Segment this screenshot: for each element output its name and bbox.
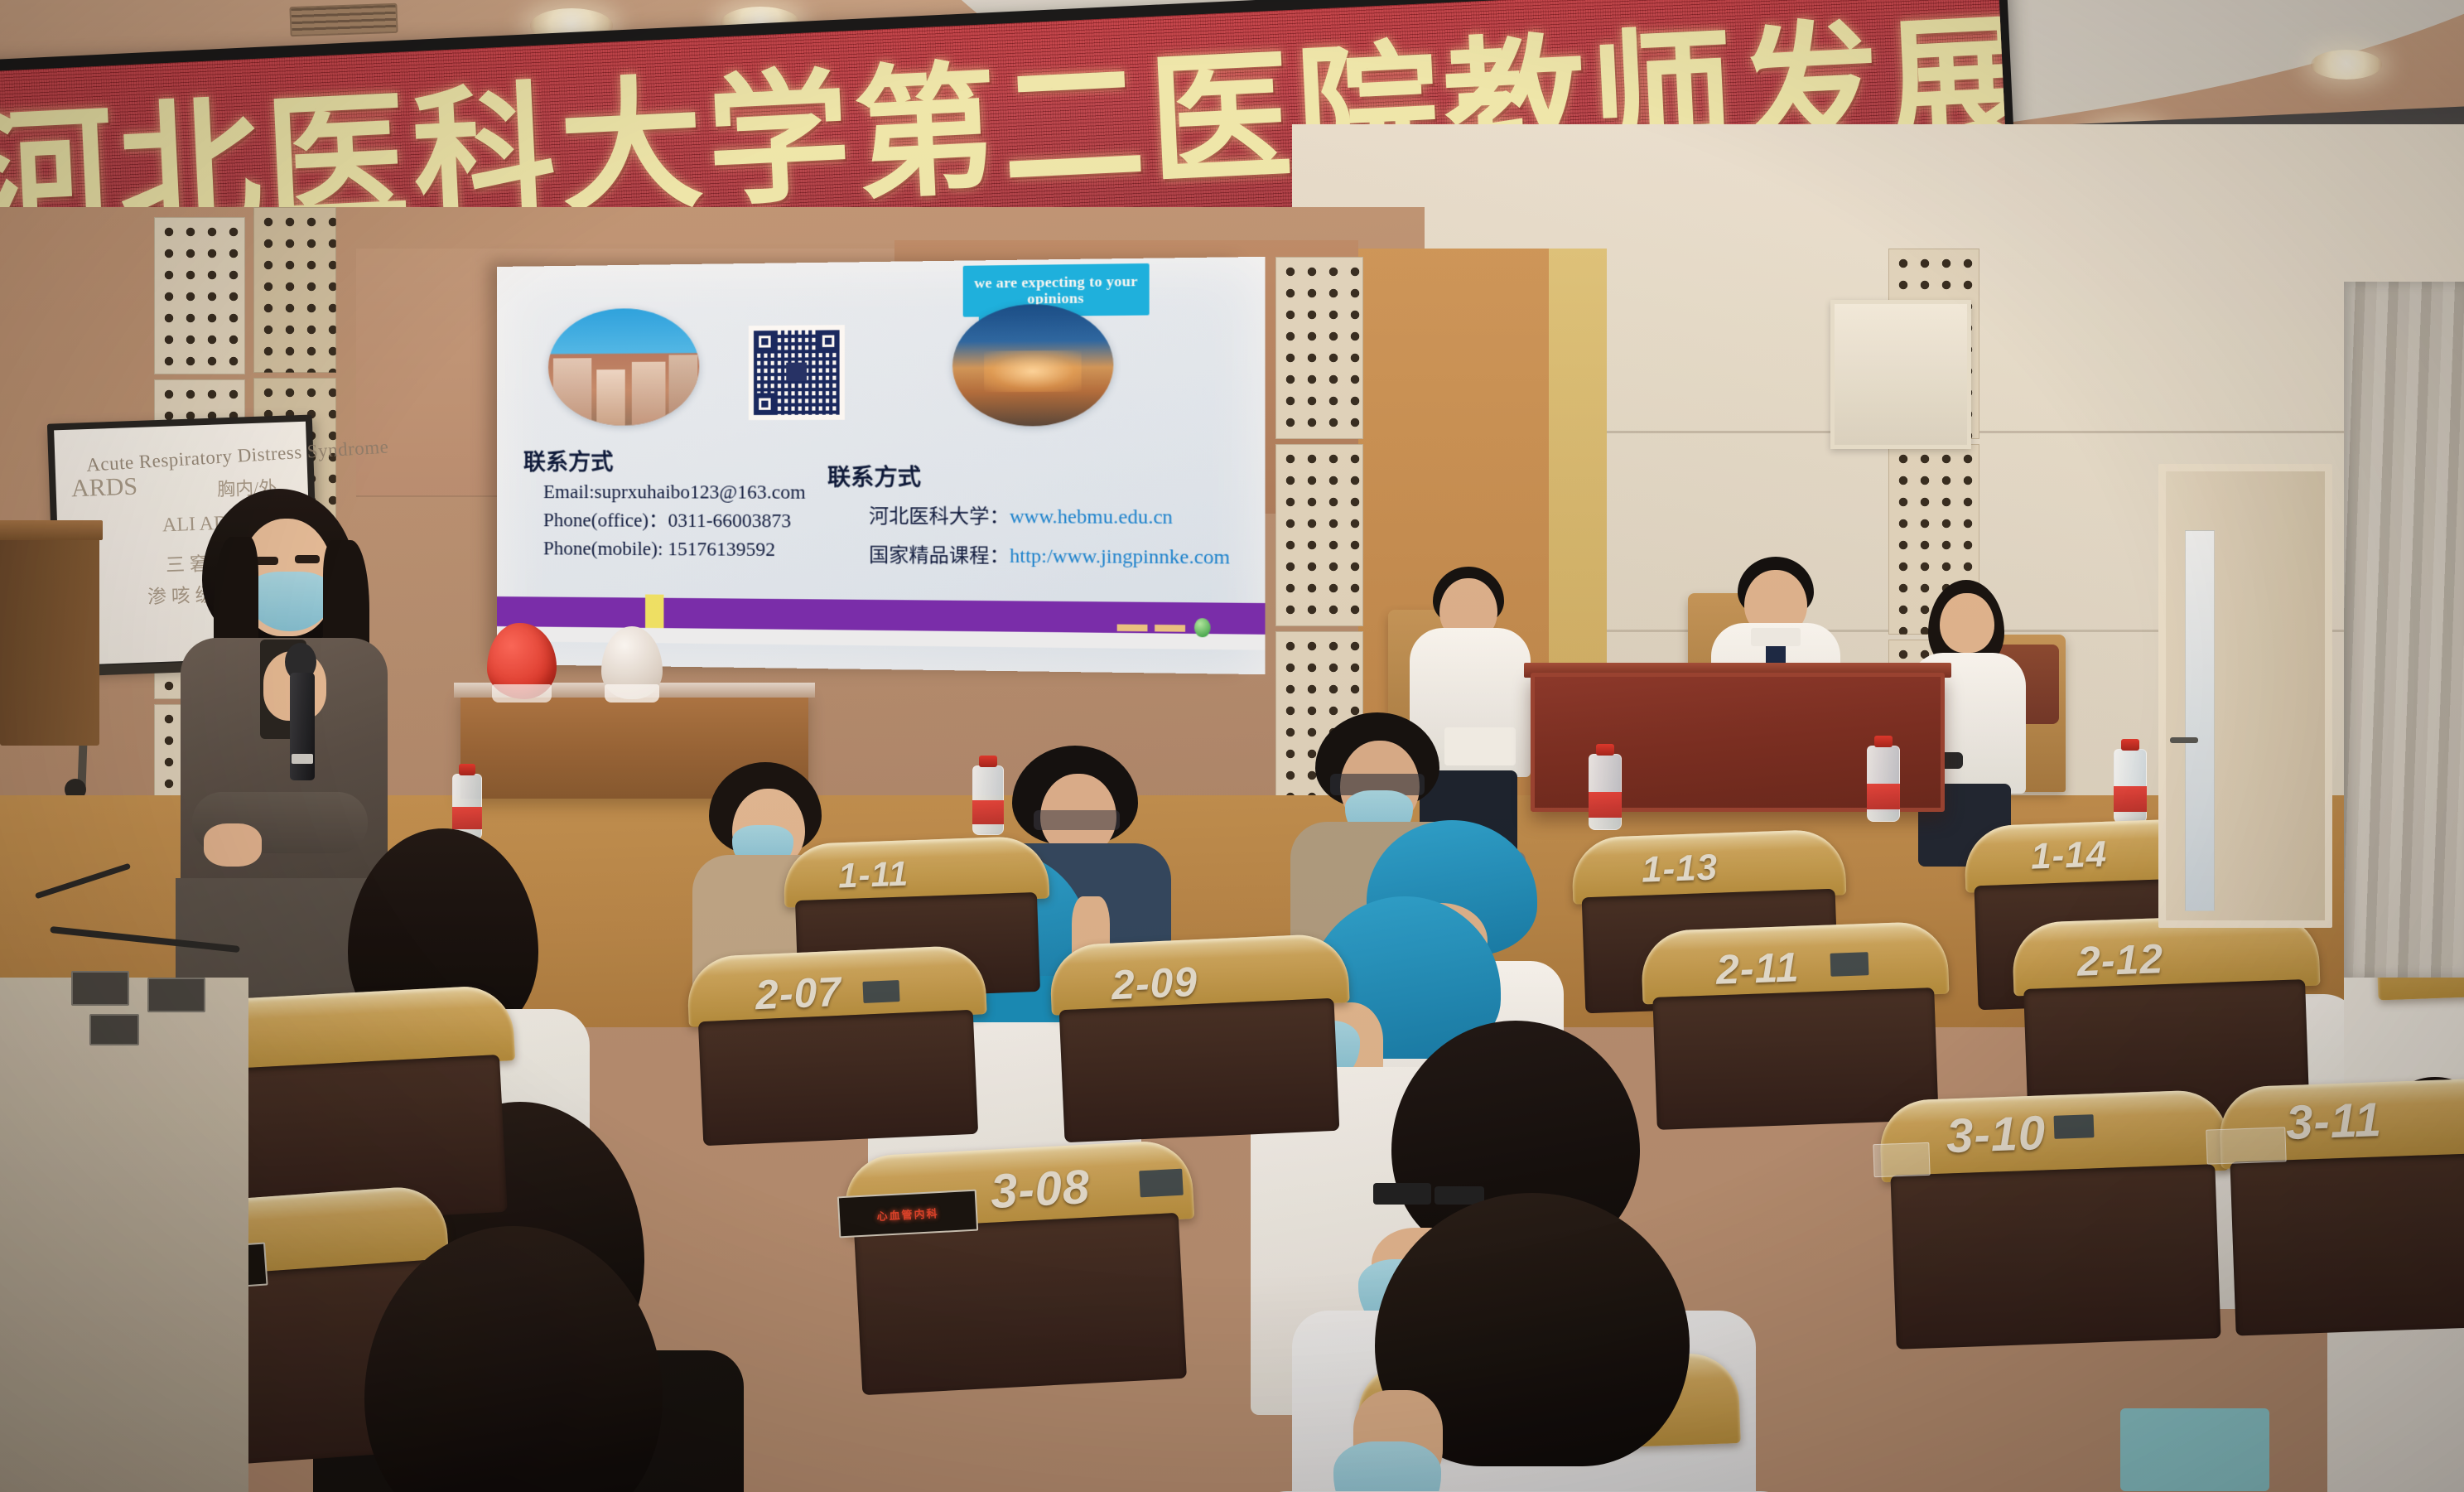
link-row-university: 河北医科大学：www.hebmu.edu.cn [869,503,1173,532]
link-row-course: 国家精品课程：http:/www.jingpinnke.com [869,542,1230,572]
water-bottle-1 [972,756,1004,835]
course-label: 国家精品课程： [869,544,1010,567]
foreground-notebook [2120,1408,2269,1491]
university-label: 河北医科大学： [869,505,1010,527]
acoustic-panel-8 [1275,444,1363,626]
seat-number-label: 2-12 [2076,934,2164,986]
door-handle[interactable] [2170,737,2198,743]
seat-number-label: 1-11 [837,854,909,896]
contact-phone-mobile: Phone(mobile): 15176139592 [543,535,775,564]
wall-mounted-panel [1830,300,1971,449]
white-balloon-base [605,684,659,703]
seat-led-nameplate: 心血管内科 [837,1190,978,1239]
slide-footer-chip-2 [1155,625,1185,632]
seat-number-label: 3-11 [2285,1092,2383,1151]
water-bottle-4 [2114,739,2147,823]
lectern [0,530,99,746]
seat-number-label: 2-11 [1715,943,1800,993]
contact-phone-office: Phone(office)：0311-66003873 [543,507,791,535]
seat-name-plate [2206,1127,2286,1164]
floor-socket-box-2 [147,978,205,1012]
acoustic-panel-5 [253,207,336,373]
whiteboard-note-0: ARDS [70,473,137,504]
floor-socket-box-3 [89,1014,139,1045]
water-bottle-2 [1589,744,1622,830]
seat-led-nameplate-text: 心血管内科 [876,1205,939,1224]
seat-badge [1830,952,1869,977]
ceiling-light-6 [2311,50,2382,80]
seat-name-plate [1873,1142,1930,1177]
lecture-hall-photo: 河北医科大学第二医院教师发展论坛（第二期） [0,0,2464,1492]
grey-curtain [2344,282,2464,978]
door-glass-strip [2185,530,2215,911]
contact-heading-right: 联系方式 [827,459,921,492]
slide-footer-chip-1 [1117,625,1148,632]
seat-number-label: 1-13 [1641,847,1719,891]
seat-number-label: 1-14 [2030,833,2108,877]
university-url[interactable]: www.hebmu.edu.cn [1010,506,1173,529]
acoustic-panel-1 [154,217,245,374]
seat-badge [2054,1114,2095,1139]
ceiling-vent-1 [289,3,398,37]
qr-code [749,325,845,420]
seat-number-label: 2-07 [755,968,843,1019]
red-balloon-base [492,684,552,703]
hospital-aerial-photo-icon [952,303,1113,426]
contact-email: Email:suprxuhaibo123@163.com [543,479,806,507]
contact-heading-left: 联系方式 [523,444,614,476]
slide-accent-chip [645,595,663,632]
course-url[interactable]: http:/www.jingpinnke.com [1010,545,1230,568]
seat-number-label: 3-10 [1946,1105,2047,1164]
lectern-top [0,520,103,540]
seat-badge [1139,1169,1184,1198]
floor-tile-left [0,978,248,1492]
seat-number-label: 3-08 [989,1159,1091,1219]
seat-badge [862,980,899,1003]
floor-socket-box-1 [71,971,129,1006]
acoustic-panel-7 [1275,257,1363,439]
projection-screen: we are expecting to your opinions 联系方式 E… [497,257,1265,674]
water-bottle-5 [452,764,482,840]
campus-building-photo-icon [548,307,699,425]
slide-footer-dot [1194,618,1211,637]
seat-number-label: 2-09 [1111,958,1199,1009]
speech-bubble-text: we are expecting to your opinions [968,273,1144,307]
water-bottle-3 [1867,736,1900,822]
